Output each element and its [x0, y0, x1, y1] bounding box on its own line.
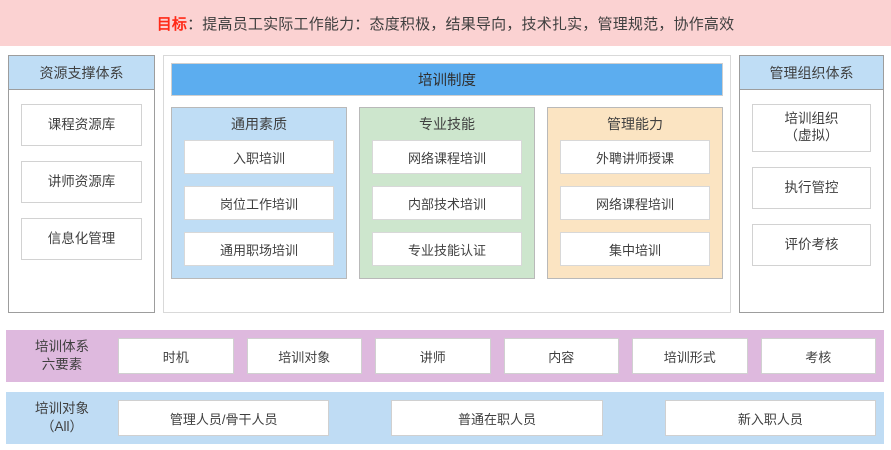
list-item[interactable]: 通用职场培训: [184, 232, 334, 266]
list-item[interactable]: 集中培训: [560, 232, 710, 266]
left-column-body: 课程资源库 讲师资源库 信息化管理: [9, 90, 154, 260]
list-item[interactable]: 内容: [504, 338, 620, 374]
track-professional-skill: 专业技能 网络课程培训 内部技术培训 专业技能认证: [359, 107, 535, 279]
track-title: 专业技能: [372, 108, 522, 140]
list-item[interactable]: 内部技术培训: [372, 186, 522, 220]
list-item[interactable]: 普通在职人员: [391, 400, 602, 436]
goal-text: 目标：提高员工实际工作能力：态度积极，结果导向，技术扎实，管理规范，协作高效: [157, 13, 735, 34]
band-label: 培训体系六要素: [6, 338, 118, 373]
list-item[interactable]: 执行管控: [752, 167, 871, 209]
list-item[interactable]: 入职培训: [184, 140, 334, 174]
track-items: 网络课程培训 内部技术培训 专业技能认证: [372, 140, 522, 266]
right-column-body: 培训组织（虚拟） 执行管控 评价考核: [740, 90, 883, 266]
list-item[interactable]: 外聘讲师授课: [560, 140, 710, 174]
goal-label: 目标: [157, 16, 187, 33]
track-general-quality: 通用素质 入职培训 岗位工作培训 通用职场培训: [171, 107, 347, 279]
center-panel-training-system: 培训制度 通用素质 入职培训 岗位工作培训 通用职场培训 专业技能 网络课程培训…: [163, 55, 731, 313]
left-column-title: 资源支撑体系: [9, 56, 154, 90]
track-items: 外聘讲师授课 网络课程培训 集中培训: [560, 140, 710, 266]
band-six-elements: 培训体系六要素 时机 培训对象 讲师 内容 培训形式 考核: [6, 330, 884, 382]
list-item[interactable]: 时机: [118, 338, 234, 374]
track-title: 通用素质: [184, 108, 334, 140]
right-column-title: 管理组织体系: [740, 56, 883, 90]
list-item[interactable]: 讲师: [375, 338, 491, 374]
list-item[interactable]: 网络课程培训: [372, 140, 522, 174]
right-column-management-organization: 管理组织体系 培训组织（虚拟） 执行管控 评价考核: [739, 55, 884, 313]
training-system-bar: 培训制度: [171, 63, 723, 96]
list-item[interactable]: 讲师资源库: [21, 161, 142, 203]
list-item[interactable]: 评价考核: [752, 224, 871, 266]
list-item[interactable]: 培训形式: [632, 338, 748, 374]
goal-separator: ：: [187, 16, 202, 33]
list-item[interactable]: 新入职人员: [665, 400, 876, 436]
left-column-resource-support: 资源支撑体系 课程资源库 讲师资源库 信息化管理: [8, 55, 155, 313]
list-item[interactable]: 专业技能认证: [372, 232, 522, 266]
track-management-ability: 管理能力 外聘讲师授课 网络课程培训 集中培训: [547, 107, 723, 279]
goal-banner: 目标：提高员工实际工作能力：态度积极，结果导向，技术扎实，管理规范，协作高效: [0, 0, 891, 46]
list-item[interactable]: 考核: [761, 338, 877, 374]
list-item[interactable]: 课程资源库: [21, 104, 142, 146]
list-item[interactable]: 管理人员/骨干人员: [118, 400, 329, 436]
list-item[interactable]: 网络课程培训: [560, 186, 710, 220]
training-system-diagram: 目标：提高员工实际工作能力：态度积极，结果导向，技术扎实，管理规范，协作高效 资…: [0, 0, 891, 450]
track-items: 入职培训 岗位工作培训 通用职场培训: [184, 140, 334, 266]
goal-description: 提高员工实际工作能力：态度积极，结果导向，技术扎实，管理规范，协作高效: [202, 16, 734, 33]
band-label: 培训对象（All）: [6, 400, 118, 435]
list-item[interactable]: 岗位工作培训: [184, 186, 334, 220]
band-items: 管理人员/骨干人员 普通在职人员 新入职人员: [118, 400, 884, 436]
track-title: 管理能力: [560, 108, 710, 140]
band-items: 时机 培训对象 讲师 内容 培训形式 考核: [118, 338, 884, 374]
list-item[interactable]: 培训对象: [247, 338, 363, 374]
track-list: 通用素质 入职培训 岗位工作培训 通用职场培训 专业技能 网络课程培训 内部技术…: [171, 107, 723, 279]
list-item[interactable]: 信息化管理: [21, 218, 142, 260]
band-training-audience: 培训对象（All） 管理人员/骨干人员 普通在职人员 新入职人员: [6, 392, 884, 444]
middle-region: 资源支撑体系 课程资源库 讲师资源库 信息化管理 培训制度 通用素质 入职培训 …: [0, 55, 891, 315]
list-item[interactable]: 培训组织（虚拟）: [752, 104, 871, 152]
